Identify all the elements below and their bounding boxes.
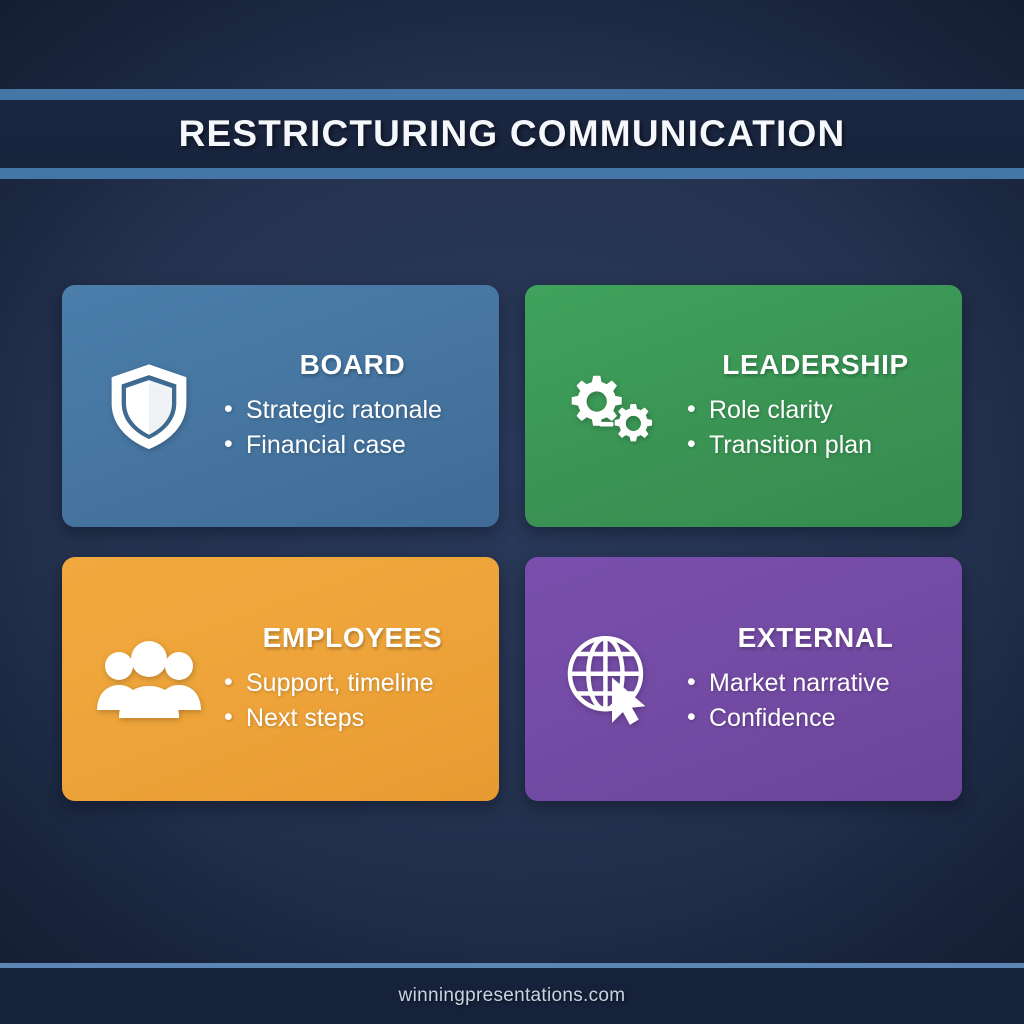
list-item: Transition plan <box>687 428 944 463</box>
card-grid: BOARD Strategic ratonale Financial case <box>62 285 962 801</box>
card-bullet-list: Market narrative Confidence <box>687 666 944 736</box>
list-item: Financial case <box>224 428 481 463</box>
card-bullet-list: Strategic ratonale Financial case <box>224 393 481 463</box>
card-bullet-list: Role clarity Transition plan <box>687 393 944 463</box>
shield-icon <box>74 360 224 452</box>
card-leadership-body: LEADERSHIP Role clarity Transition plan <box>687 349 962 463</box>
footer-website: winningpresentations.com <box>399 985 626 1007</box>
globe-cursor-icon <box>537 633 687 725</box>
card-title: EMPLOYEES <box>224 622 481 654</box>
gears-icon <box>537 360 687 452</box>
slide-title-band: RESTRICTURING COMMUNICATION <box>0 89 1024 179</box>
slide-canvas: RESTRICTURING COMMUNICATION BOARD Strate… <box>0 0 1024 1024</box>
card-employees[interactable]: EMPLOYEES Support, timeline Next steps <box>62 557 499 801</box>
card-title: BOARD <box>224 349 481 381</box>
footer-bar: winningpresentations.com <box>0 968 1024 1024</box>
list-item: Strategic ratonale <box>224 393 481 428</box>
card-title: LEADERSHIP <box>687 349 944 381</box>
card-employees-body: EMPLOYEES Support, timeline Next steps <box>224 622 499 736</box>
card-leadership[interactable]: LEADERSHIP Role clarity Transition plan <box>525 285 962 527</box>
card-board[interactable]: BOARD Strategic ratonale Financial case <box>62 285 499 527</box>
people-group-icon <box>74 638 224 720</box>
list-item: Support, timeline <box>224 666 481 701</box>
card-external[interactable]: EXTERNAL Market narrative Confidence <box>525 557 962 801</box>
list-item: Market narrative <box>687 666 944 701</box>
card-external-body: EXTERNAL Market narrative Confidence <box>687 622 962 736</box>
list-item: Next steps <box>224 701 481 736</box>
card-board-body: BOARD Strategic ratonale Financial case <box>224 349 499 463</box>
page-title: RESTRICTURING COMMUNICATION <box>179 113 846 155</box>
list-item: Role clarity <box>687 393 944 428</box>
card-title: EXTERNAL <box>687 622 944 654</box>
list-item: Confidence <box>687 701 944 736</box>
card-bullet-list: Support, timeline Next steps <box>224 666 481 736</box>
